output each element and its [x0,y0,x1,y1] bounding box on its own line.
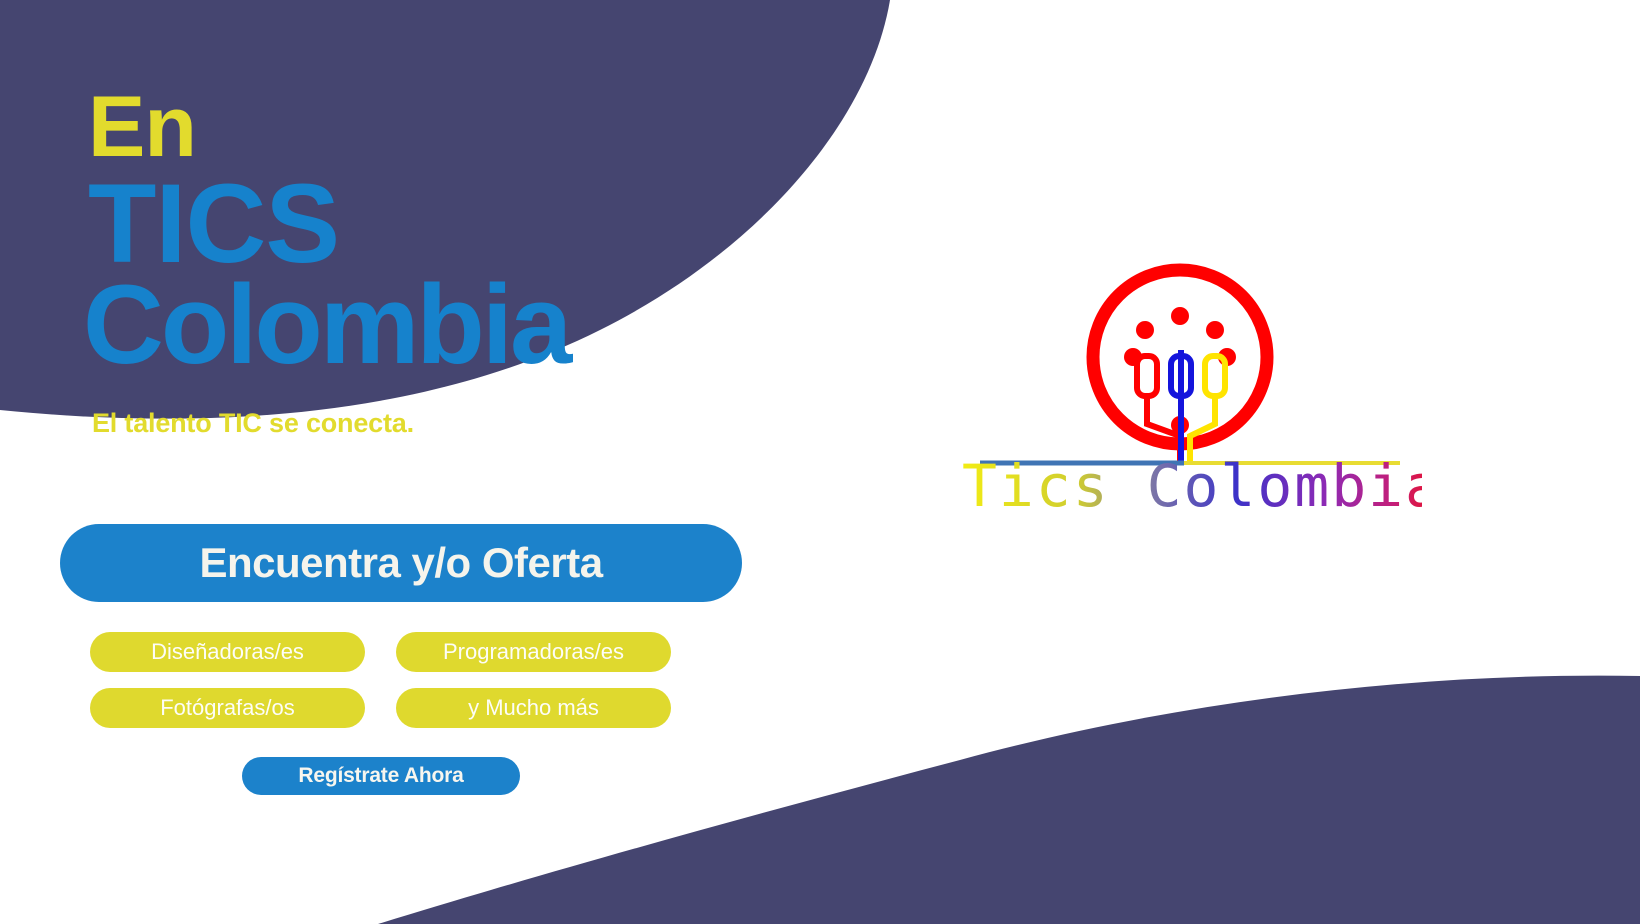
tics-colombia-logo: Tics Colombia [952,238,1422,508]
logo-wordmark: Tics Colombia [962,452,1422,508]
headline-line-colombia: Colombia [83,272,848,377]
tag-mucho-mas[interactable]: y Mucho más [396,688,671,728]
tag-programadoras[interactable]: Programadoras/es [396,632,671,672]
tag-fotografas[interactable]: Fotógrafas/os [90,688,365,728]
encuentra-oferta-button[interactable]: Encuentra y/o Oferta [60,524,742,602]
registrate-ahora-button[interactable]: Regístrate Ahora [242,757,520,795]
hero-banner: En TICS Colombia El talento TIC se conec… [0,0,1640,924]
tagline: El talento TIC se conecta. [92,408,848,439]
tag-disenadoras[interactable]: Diseñadoras/es [90,632,365,672]
headline-line-en: En [88,88,848,167]
headline-block: En TICS Colombia El talento TIC se conec… [88,88,848,439]
headline-line-tics: TICS [88,171,848,276]
